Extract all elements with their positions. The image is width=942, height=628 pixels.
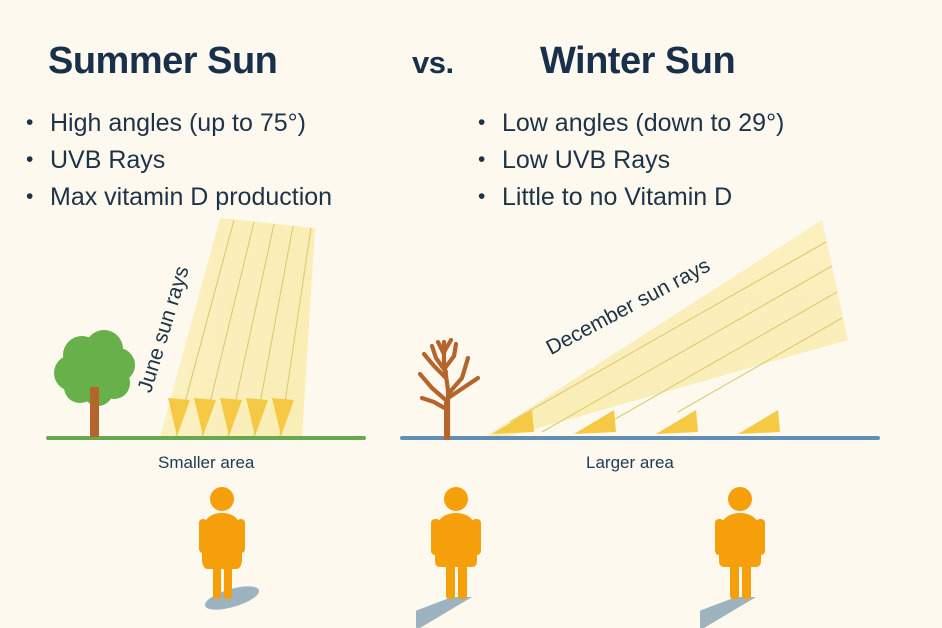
person-shadow <box>700 597 756 628</box>
person-figure-summer <box>186 485 316 628</box>
person-figure-winter-right <box>700 485 930 628</box>
person-figure-winter-left <box>416 485 646 628</box>
person-body <box>715 487 765 599</box>
tree-trunk <box>444 402 450 440</box>
infographic-canvas: Summer Sun vs. Winter Sun High angles (u… <box>0 0 942 628</box>
tree-trunk <box>90 387 99 437</box>
list-item: UVB Rays <box>20 142 332 179</box>
summer-bullet-list: High angles (up to 75°) UVB Rays Max vit… <box>20 105 332 216</box>
person-shadow <box>416 597 472 628</box>
person-body <box>431 487 481 599</box>
winter-bullet-list: Low angles (down to 29°) Low UVB Rays Li… <box>472 105 784 216</box>
winter-sun-title: Winter Sun <box>540 40 735 83</box>
list-item: High angles (up to 75°) <box>20 105 332 142</box>
leafy-tree-icon <box>52 325 138 440</box>
versus-label: vs. <box>412 45 454 81</box>
bare-tree-icon <box>410 328 490 440</box>
list-item: Low UVB Rays <box>472 142 784 179</box>
beam-body <box>486 220 848 436</box>
summer-sun-title: Summer Sun <box>48 40 277 83</box>
larger-area-label: Larger area <box>586 453 674 473</box>
smaller-area-label: Smaller area <box>158 453 254 473</box>
person-body <box>199 487 245 599</box>
list-item: Low angles (down to 29°) <box>472 105 784 142</box>
diagram-scene: June sun rays December sun rays Smaller … <box>0 210 942 628</box>
december-sun-beam <box>470 210 890 445</box>
